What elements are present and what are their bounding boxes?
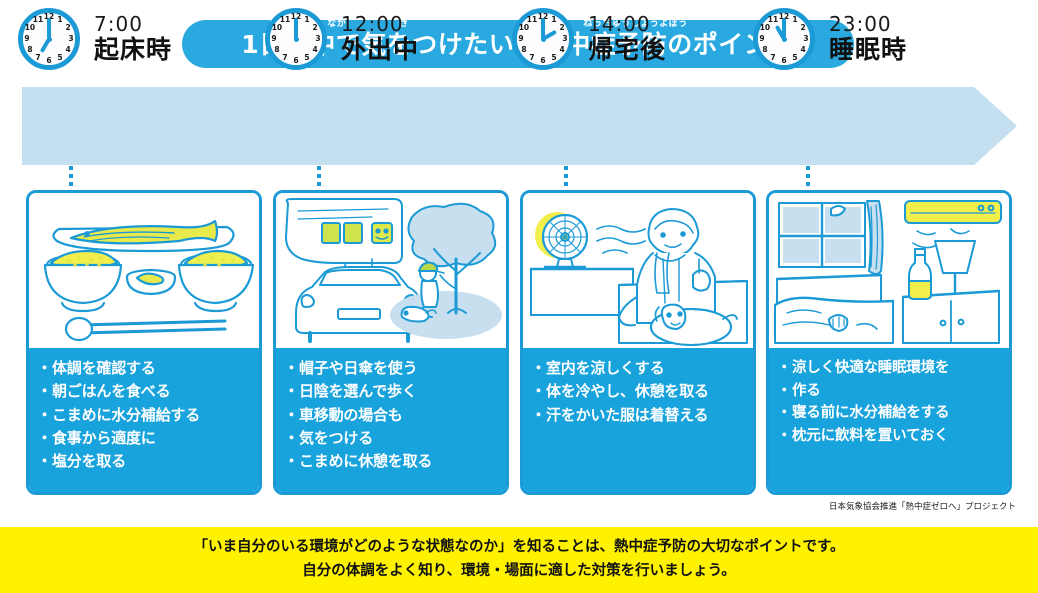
list-item: 朝ごはんを食べる xyxy=(39,381,251,402)
timeline-item-1: 123456789101112 12:00 外出中 xyxy=(265,0,419,78)
list-item: 汗をかいた服は着替える xyxy=(533,405,745,426)
timeline-item-0: 123456789101112 7:00 起床時 xyxy=(18,0,172,78)
clock-numeral-8: 8 xyxy=(518,45,530,55)
indoor-fan-rest-illustration xyxy=(523,193,753,348)
clock-numeral-9: 9 xyxy=(268,34,280,44)
clock-numeral-2: 2 xyxy=(797,23,809,33)
clock-numeral-6: 6 xyxy=(290,56,302,66)
connector-dots-0 xyxy=(69,166,73,188)
card-sleep: 涼しく快適な睡眠環境を 作る 寝る前に水分補給をする 枕元に飲料を置いておく xyxy=(766,190,1012,495)
clock-numeral-3: 3 xyxy=(312,34,324,44)
timeline-time-3: 23:00 xyxy=(829,14,907,35)
timeline-time-0: 7:00 xyxy=(94,14,172,35)
list-item: 涼しく快適な睡眠環境を xyxy=(779,358,1001,379)
bullet-list: 涼しく快適な睡眠環境を 作る 寝る前に水分補給をする 枕元に飲料を置いておく xyxy=(779,358,1001,446)
timeline-label-3: 睡眠時 xyxy=(829,36,907,64)
card-sleep-bullets: 涼しく快適な睡眠環境を 作る 寝る前に水分補給をする 枕元に飲料を置いておく xyxy=(769,348,1009,492)
list-item: 日陰を選んで歩く xyxy=(286,381,498,402)
list-item: 食事から適度に xyxy=(39,428,251,449)
clock-numeral-3: 3 xyxy=(65,34,77,44)
timeline-label-0: 起床時 xyxy=(94,36,172,64)
clock-numeral-2: 2 xyxy=(309,23,321,33)
list-item: 枕元に飲料を置いておく xyxy=(779,426,1001,447)
clock-numeral-5: 5 xyxy=(54,53,66,63)
timeline-labels-1: 12:00 外出中 xyxy=(341,14,419,64)
clock-pivot xyxy=(541,37,546,42)
clock-icon: 123456789101112 xyxy=(18,8,80,70)
clock-minute-hand xyxy=(541,18,545,39)
bedroom-sleeping-illustration xyxy=(769,193,1009,348)
clock-numeral-3: 3 xyxy=(559,34,571,44)
card-return-home-bullets: 室内を涼しくする 体を冷やし、休憩を取る 汗をかいた服は着替える xyxy=(523,348,753,492)
bullet-list: 帽子や日傘を使う 日陰を選んで歩く 車移動の場合も 気をつける こまめに休憩を取… xyxy=(286,358,498,472)
japanese-breakfast-illustration xyxy=(29,193,259,348)
timeline-item-3: 123456789101112 23:00 睡眠時 xyxy=(753,0,907,78)
clock-pivot xyxy=(782,37,787,42)
clock-numeral-8: 8 xyxy=(759,45,771,55)
list-item: こまめに休憩を取る xyxy=(286,451,498,472)
clock-numeral-9: 9 xyxy=(21,34,33,44)
list-item-continuation: 気をつける xyxy=(286,428,498,449)
timeline-labels-0: 7:00 起床時 xyxy=(94,14,172,64)
list-item: 帽子や日傘を使う xyxy=(286,358,498,379)
list-item: 室内を涼しくする xyxy=(533,358,745,379)
clock-numeral-6: 6 xyxy=(778,56,790,66)
timeline-label-1: 外出中 xyxy=(341,36,419,64)
card-outing: 帽子や日傘を使う 日陰を選んで歩く 車移動の場合も 気をつける こまめに休憩を取… xyxy=(273,190,509,495)
list-item: 車移動の場合も xyxy=(286,405,498,426)
clock-icon: 123456789101112 xyxy=(512,8,574,70)
clock-numeral-2: 2 xyxy=(556,23,568,33)
clock-numeral-5: 5 xyxy=(548,53,560,63)
credit-line: 日本気象協会推進「熱中症ゼロへ」プロジェクト xyxy=(829,500,1016,512)
clock-numeral-8: 8 xyxy=(24,45,36,55)
clock-numeral-5: 5 xyxy=(789,53,801,63)
clock-numeral-6: 6 xyxy=(43,56,55,66)
list-item-continuation: 作る xyxy=(779,381,1001,402)
list-item: 体を冷やし、休憩を取る xyxy=(533,381,745,402)
infographic-root: にち なか き ねっちゅうしょうよぼう 1日の中で気をつけたい、熱中症予防のポイ… xyxy=(0,0,1038,593)
timeline-time-1: 12:00 xyxy=(341,14,419,35)
timeline-labels-2: 14:00 帰宅後 xyxy=(588,14,666,64)
clock-numeral-5: 5 xyxy=(301,53,313,63)
timeline-time-2: 14:00 xyxy=(588,14,666,35)
clock-pivot xyxy=(47,37,52,42)
clock-numeral-6: 6 xyxy=(537,56,549,66)
clock-icon: 123456789101112 xyxy=(753,8,815,70)
clock-numeral-3: 3 xyxy=(800,34,812,44)
bullet-list: 室内を涼しくする 体を冷やし、休憩を取る 汗をかいた服は着替える xyxy=(533,358,745,426)
connector-dots-3 xyxy=(806,166,810,188)
list-item: 体調を確認する xyxy=(39,358,251,379)
list-item-continuation: 塩分を取る xyxy=(39,451,251,472)
clock-numeral-9: 9 xyxy=(515,34,527,44)
list-item: こまめに水分補給する xyxy=(39,405,251,426)
card-outing-bullets: 帽子や日傘を使う 日陰を選んで歩く 車移動の場合も 気をつける こまめに休憩を取… xyxy=(276,348,506,492)
connector-dots-2 xyxy=(564,166,568,188)
timeline-label-2: 帰宅後 xyxy=(588,36,666,64)
timeline-item-2: 123456789101112 14:00 帰宅後 xyxy=(512,0,666,78)
bullet-list: 体調を確認する 朝ごはんを食べる こまめに水分補給する 食事から適度に 塩分を取… xyxy=(39,358,251,472)
timeline-arrow-bar xyxy=(22,87,1017,165)
clock-numeral-9: 9 xyxy=(756,34,768,44)
clock-pivot xyxy=(294,37,299,42)
car-and-shade-tree-illustration xyxy=(276,193,506,348)
clock-minute-hand xyxy=(782,18,786,39)
clock-numeral-2: 2 xyxy=(62,23,74,33)
clock-icon: 123456789101112 xyxy=(265,8,327,70)
card-morning-bullets: 体調を確認する 朝ごはんを食べる こまめに水分補給する 食事から適度に 塩分を取… xyxy=(29,348,259,492)
clock-minute-hand xyxy=(294,18,298,39)
footer-line-1: 「いま自分のいる環境がどのような状態なのか」を知ることは、熱中症予防の大切なポイ… xyxy=(193,536,844,560)
connector-dots-1 xyxy=(317,166,321,188)
clock-numeral-8: 8 xyxy=(271,45,283,55)
footer-line-2: 自分の体調をよく知り、環境・場面に適した対策を行いましょう。 xyxy=(302,560,736,584)
clock-minute-hand xyxy=(47,18,51,39)
footer-banner: 「いま自分のいる環境がどのような状態なのか」を知ることは、熱中症予防の大切なポイ… xyxy=(0,527,1038,593)
card-return-home: 室内を涼しくする 体を冷やし、休憩を取る 汗をかいた服は着替える xyxy=(520,190,756,495)
list-item: 寝る前に水分補給をする xyxy=(779,403,1001,424)
timeline-labels-3: 23:00 睡眠時 xyxy=(829,14,907,64)
card-morning: 体調を確認する 朝ごはんを食べる こまめに水分補給する 食事から適度に 塩分を取… xyxy=(26,190,262,495)
